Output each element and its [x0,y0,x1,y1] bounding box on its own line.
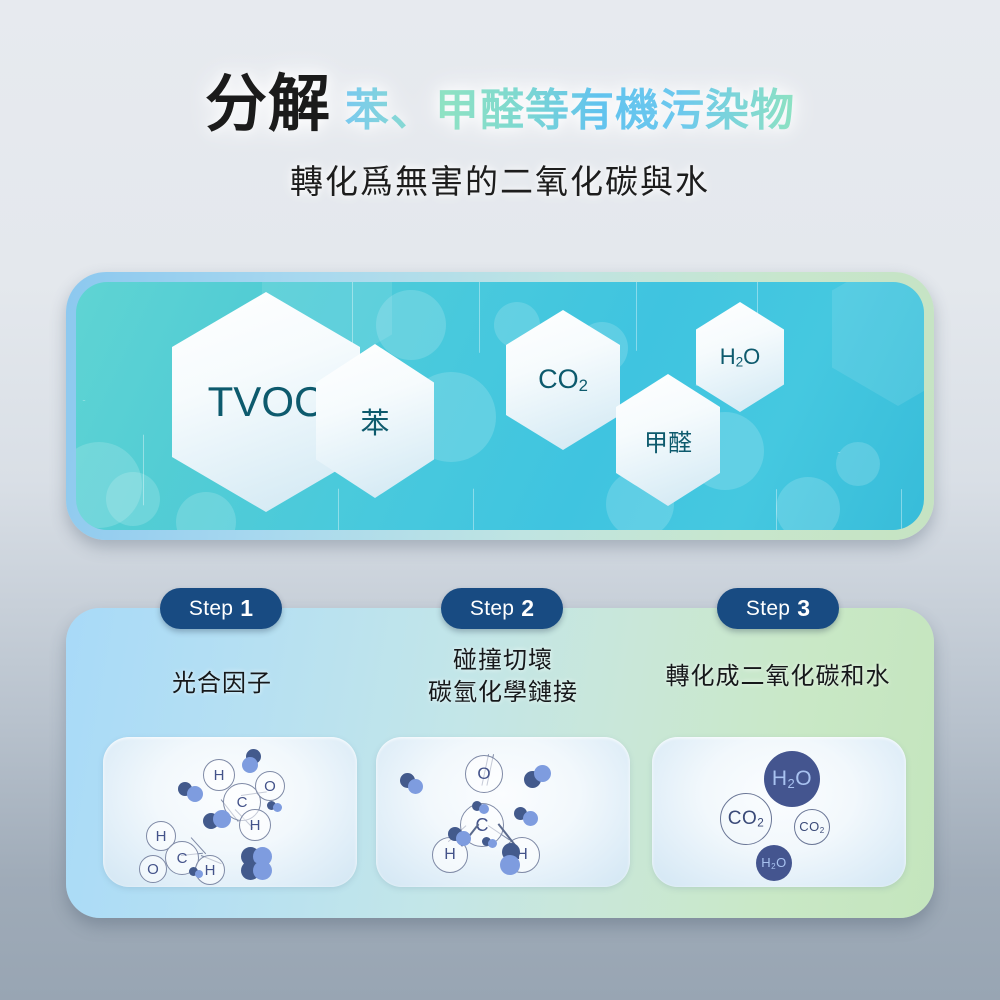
step-1-illustration: H C O H H C O H [103,737,357,887]
page-header: 分解 苯、甲醛等有機污染物 轉化爲無害的二氧化碳與水 [0,72,1000,203]
step-caption-2: 碰撞切壞 碳氫化學鏈接 [380,645,626,708]
hexagon-outline [776,452,902,530]
molecule-h2o-large-label: H2O [772,767,812,791]
step-badge-3-number: 3 [797,595,810,622]
radical-dot [500,855,520,875]
radical-dot [195,870,203,878]
hero-panel: TVOC 苯 CO2 甲醛 H2O [66,272,934,540]
radical-dot [534,765,551,782]
radical-dot [187,786,203,802]
page-subtitle: 轉化爲無害的二氧化碳與水 [0,155,1000,203]
atom-o: O [465,755,503,793]
molecule-h2o-large: H2O [764,751,820,807]
step-badge-1-word: Step [189,597,233,621]
hex-co2-subscript: 2 [579,376,588,395]
step-3-illustration: H2O CO2 CO2 H2O [652,737,906,887]
page-title-accent: 苯、甲醛等有機污染物 [345,87,795,135]
radical-dot [253,861,272,880]
step-badge-3[interactable]: Step 3 [717,588,839,629]
radical-dot [488,839,497,848]
molecule-h2o-small: H2O [756,845,792,881]
molecule-co2-small-label: CO2 [799,819,824,835]
radical-dot [273,803,282,812]
step-caption-1-line1: 光合因子 [100,668,344,700]
hex-benzene-label: 苯 [360,400,389,442]
step-caption-3-line1: 轉化成二氧化碳和水 [628,661,928,693]
step-caption-1: 光合因子 [100,668,344,700]
step-caption-2-line1: 碰撞切壞 [380,645,626,677]
step-badge-1-number: 1 [240,595,253,622]
decorative-blob [176,492,236,530]
radical-dot [242,757,258,773]
radical-dot [479,804,489,814]
atom-o: O [255,771,285,801]
hexagon-outline [76,400,144,530]
atom-o: O [139,855,167,883]
step-badge-2[interactable]: Step 2 [441,588,563,629]
radical-dot [456,831,471,846]
step-caption-3: 轉化成二氧化碳和水 [628,661,928,693]
step-badge-1[interactable]: Step 1 [160,588,282,629]
hex-tvoc-label: TVOC [208,378,325,426]
step-caption-2-line2: 碳氫化學鏈接 [380,677,626,709]
molecule-h2o-small-label: H2O [761,855,787,871]
molecule-co2-large-label: CO2 [728,808,765,830]
step-badge-3-word: Step [746,597,790,621]
hex-co2-label: CO2 [538,364,588,396]
hex-h2o-label: H2O [720,344,761,370]
radical-dot [408,779,423,794]
molecule-co2-small: CO2 [794,809,830,845]
hex-formaldehyde-label: 甲醛 [644,423,692,458]
hexagon-outline [832,282,924,406]
step-2-illustration: O C H H [376,737,630,887]
radical-dot [523,811,538,826]
step-badge-2-number: 2 [521,595,534,622]
radical-dot [213,810,231,828]
molecule-co2-large: CO2 [720,793,772,845]
hero-panel-inner: TVOC 苯 CO2 甲醛 H2O [76,282,924,530]
atom-h: H [239,809,271,841]
step-badge-2-word: Step [470,597,514,621]
page-title: 分解 [205,72,331,137]
title-row: 分解 苯、甲醛等有機污染物 [0,72,1000,137]
